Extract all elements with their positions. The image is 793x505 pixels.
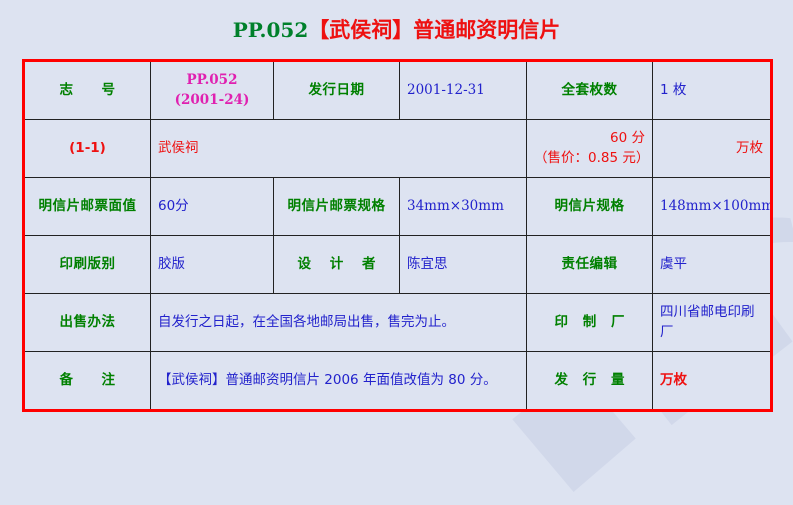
value-stamp-size: 34mm×30mm [400, 178, 527, 236]
table-row: (1-1) 武侯祠 60 分 （售价：0.85 元） 万枚 [24, 120, 772, 178]
stamp-info-table: 志 号 PP.052 (2001-24) 发行日期 2001-12-31 全套枚… [22, 59, 773, 412]
value-set-count: 1 枚 [653, 61, 772, 120]
label-remarks: 备 注 [24, 352, 151, 411]
label-issue-quantity: 发 行 量 [527, 352, 653, 411]
label-set-count: 全套枚数 [527, 61, 653, 120]
label-card-size: 明信片规格 [527, 178, 653, 236]
value-face-price: 60 分 （售价：0.85 元） [527, 120, 653, 178]
title-issue-name: 【武侯祠】普通邮资明信片 [308, 18, 560, 42]
value-stamp-face-value: 60分 [151, 178, 274, 236]
table-row: 印刷版别 胶版 设 计 者 陈宜思 责任编辑 虞平 [24, 236, 772, 294]
table-row: 明信片邮票面值 60分 明信片邮票规格 34mm×30mm 明信片规格 148m… [24, 178, 772, 236]
value-printer: 四川省邮电印刷厂 [653, 294, 772, 352]
label-issue-number: 志 号 [24, 61, 151, 120]
label-stamp-size: 明信片邮票规格 [274, 178, 400, 236]
value-issue-date: 2001-12-31 [400, 61, 527, 120]
issue-code-line: PP.052 [158, 71, 266, 91]
value-sales-method: 自发行之日起，在全国各地邮局出售，售完为止。 [151, 294, 527, 352]
label-editor: 责任编辑 [527, 236, 653, 294]
label-stamp-face-value: 明信片邮票面值 [24, 178, 151, 236]
table-row: 备 注 【武侯祠】普通邮资明信片 2006 年面值改值为 80 分。 发 行 量… [24, 352, 772, 411]
value-issue-quantity: 万枚 [653, 352, 772, 411]
value-item-quantity: 万枚 [653, 120, 772, 178]
value-print-process: 胶版 [151, 236, 274, 294]
label-printer: 印 制 厂 [527, 294, 653, 352]
sale-price-line: （售价：0.85 元） [534, 149, 645, 169]
value-remarks: 【武侯祠】普通邮资明信片 2006 年面值改值为 80 分。 [151, 352, 527, 411]
title-issue-code: PP.052 [233, 18, 308, 42]
table-row: 出售办法 自发行之日起，在全国各地邮局出售，售完为止。 印 制 厂 四川省邮电印… [24, 294, 772, 352]
label-sales-method: 出售办法 [24, 294, 151, 352]
issue-serial-line: (2001-24) [158, 91, 266, 111]
value-card-size: 148mm×100mm [653, 178, 772, 236]
value-editor: 虞平 [653, 236, 772, 294]
label-print-process: 印刷版别 [24, 236, 151, 294]
page-title: PP.052【武侯祠】普通邮资明信片 [0, 14, 793, 44]
value-issue-number: PP.052 (2001-24) [151, 61, 274, 120]
label-designer: 设 计 者 [274, 236, 400, 294]
label-item-index: (1-1) [24, 120, 151, 178]
table-row: 志 号 PP.052 (2001-24) 发行日期 2001-12-31 全套枚… [24, 61, 772, 120]
value-designer: 陈宜思 [400, 236, 527, 294]
label-issue-date: 发行日期 [274, 61, 400, 120]
value-item-name: 武侯祠 [151, 120, 527, 178]
face-value-line: 60 分 [534, 129, 645, 149]
